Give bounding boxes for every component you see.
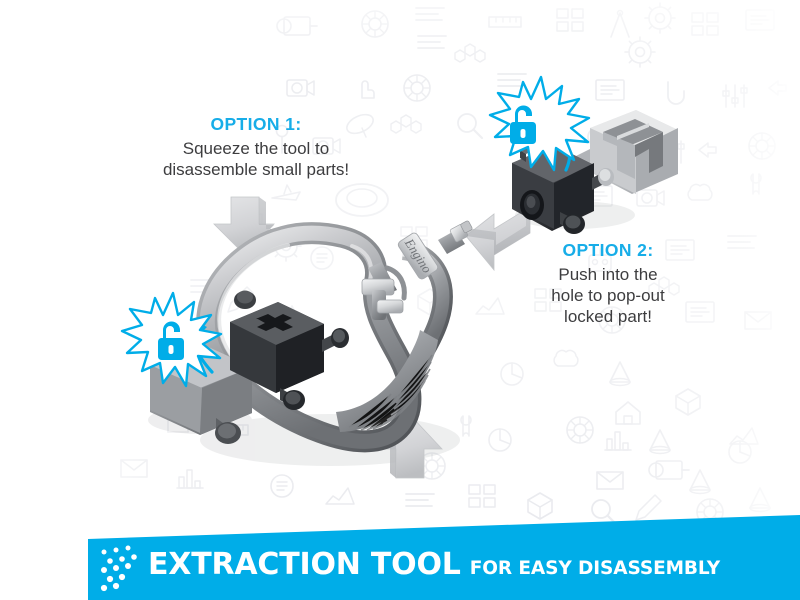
cube-top-nut (234, 291, 256, 310)
banner-title: EXTRACTION TOOL (148, 550, 461, 580)
option-1-body: Squeeze the tool to disassemble small pa… (140, 138, 372, 180)
cube-side-screw (322, 328, 349, 352)
option-2-title: OPTION 2: (508, 240, 708, 261)
callout-option-2: OPTION 2: Push into the hole to pop-out … (508, 240, 708, 327)
banner-subtitle: FOR EASY DISASSEMBLY (470, 560, 720, 578)
banner-text: EXTRACTION TOOL FOR EASY DISASSEMBLY (148, 550, 720, 584)
option-2-body: Push into the hole to pop-out locked par… (508, 264, 708, 327)
promo-graphic: Engino (0, 0, 800, 600)
option-1-title: OPTION 1: (140, 114, 372, 135)
cube-hole (520, 190, 544, 220)
callout-option-1: OPTION 1: Squeeze the tool to disassembl… (140, 114, 372, 180)
